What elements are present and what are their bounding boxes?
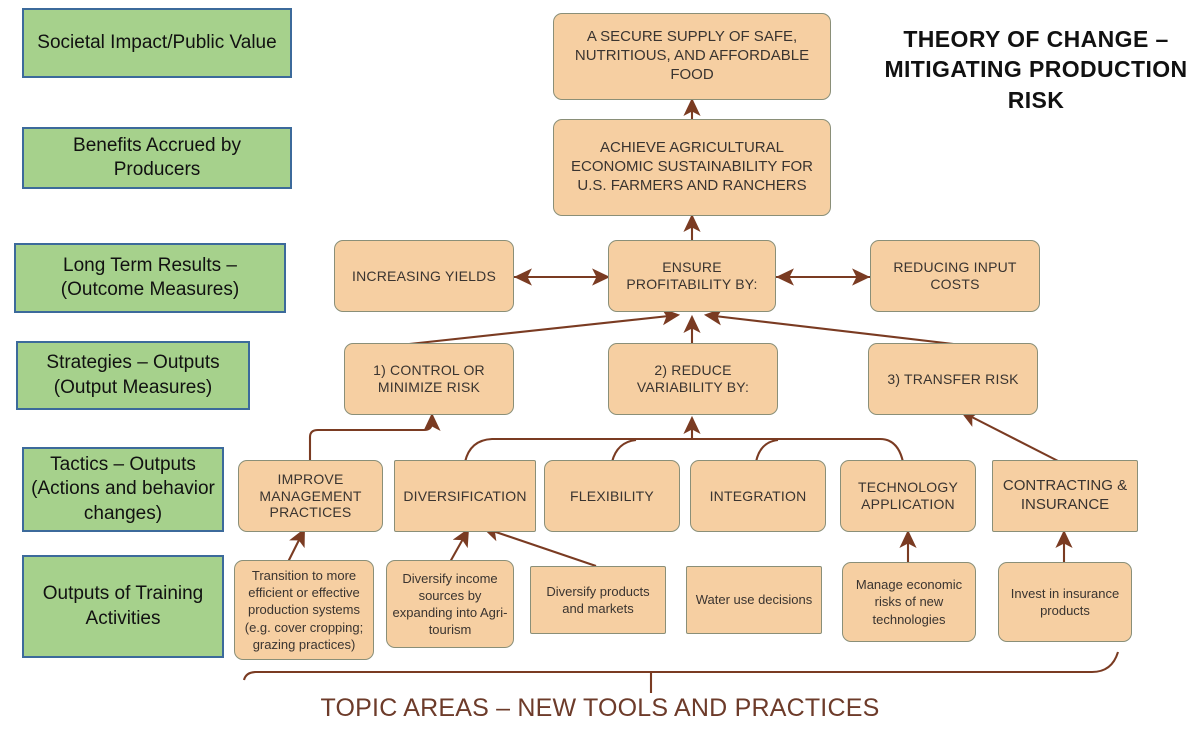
node-secure-food-supply: A SECURE SUPPLY OF SAFE, NUTRITIOUS, AND…	[553, 13, 831, 100]
level-label-text: Outputs of Training Activities	[30, 582, 216, 631]
arrow-output2-to-tactic2	[450, 530, 468, 562]
diagram-canvas: Societal Impact/Public Value Benefits Ac…	[0, 0, 1200, 734]
node-label: CONTRACTING & INSURANCE	[998, 477, 1132, 515]
connector-tactic1-to-strategy1	[310, 415, 432, 460]
node-label: DIVERSIFICATION	[403, 488, 526, 505]
connector-tactics-bracket-left	[465, 439, 880, 462]
level-label-long-term-results: Long Term Results – (Outcome Measures)	[14, 243, 286, 313]
node-manage-economic-risks: Manage economic risks of new technologie…	[842, 562, 976, 642]
node-contracting-insurance: CONTRACTING & INSURANCE	[992, 460, 1138, 532]
node-control-minimize-risk: 1) CONTROL OR MINIMIZE RISK	[344, 343, 514, 415]
node-label: INCREASING YIELDS	[352, 268, 496, 285]
arrow-output1-to-tactic1	[288, 530, 304, 562]
connector-tactics-bracket-right	[880, 439, 903, 462]
node-invest-insurance-products: Invest in insurance products	[998, 562, 1132, 642]
level-label-societal-impact: Societal Impact/Public Value	[22, 8, 292, 78]
node-diversification: DIVERSIFICATION	[394, 460, 536, 532]
node-diversify-income-agritourism: Diversify income sources by expanding in…	[386, 560, 514, 648]
level-label-outputs-training: Outputs of Training Activities	[22, 555, 224, 658]
node-reduce-variability: 2) REDUCE VARIABILITY BY:	[608, 343, 778, 415]
node-label: REDUCING INPUT COSTS	[876, 259, 1034, 293]
level-label-text: Benefits Accrued by Producers	[30, 134, 284, 183]
node-label: ENSURE PROFITABILITY BY:	[614, 259, 770, 293]
node-transfer-risk: 3) TRANSFER RISK	[868, 343, 1038, 415]
node-label: INTEGRATION	[710, 488, 807, 505]
level-label-benefits-producers: Benefits Accrued by Producers	[22, 127, 292, 189]
node-improve-management-practices: IMPROVE MANAGEMENT PRACTICES	[238, 460, 383, 532]
level-label-text: Tactics – Outputs (Actions and behavior …	[30, 453, 216, 526]
node-increasing-yields: INCREASING YIELDS	[334, 240, 514, 312]
connector-tactic-flexibility-stub	[612, 440, 636, 462]
node-label: FLEXIBILITY	[570, 488, 654, 505]
arrow-tactic6-to-strategy3	[962, 412, 1060, 462]
node-label: Water use decisions	[696, 591, 813, 608]
level-label-strategies-outputs: Strategies – Outputs (Output Measures)	[16, 341, 250, 410]
node-ensure-profitability: ENSURE PROFITABILITY BY:	[608, 240, 776, 312]
node-reducing-input-costs: REDUCING INPUT COSTS	[870, 240, 1040, 312]
arrow-strategy3-to-profitability	[706, 315, 962, 345]
node-label: Manage economic risks of new technologie…	[848, 576, 970, 627]
level-label-text: Long Term Results – (Outcome Measures)	[22, 254, 278, 303]
node-diversify-products-markets: Diversify products and markets	[530, 566, 666, 634]
node-label: Transition to more efficient or effectiv…	[240, 567, 368, 653]
level-label-tactics-outputs: Tactics – Outputs (Actions and behavior …	[22, 447, 224, 532]
diagram-title: THEORY OF CHANGE – MITIGATING PRODUCTION…	[878, 24, 1194, 115]
node-label: Diversify products and markets	[536, 583, 660, 617]
level-label-text: Strategies – Outputs (Output Measures)	[24, 351, 242, 400]
node-water-use-decisions: Water use decisions	[686, 566, 822, 634]
node-label: ACHIEVE AGRICULTURAL ECONOMIC SUSTAINABI…	[559, 139, 825, 195]
bottom-caption: TOPIC AREAS – NEW TOOLS AND PRACTICES	[250, 694, 950, 723]
connector-tactic-integration-stub	[756, 440, 778, 462]
node-label: Invest in insurance products	[1004, 585, 1126, 619]
arrow-strategy1-to-profitability	[400, 315, 678, 345]
node-integration: INTEGRATION	[690, 460, 826, 532]
node-label: 3) TRANSFER RISK	[887, 371, 1018, 388]
node-agricultural-sustainability: ACHIEVE AGRICULTURAL ECONOMIC SUSTAINABI…	[553, 119, 831, 216]
level-label-text: Societal Impact/Public Value	[37, 31, 276, 55]
node-label: A SECURE SUPPLY OF SAFE, NUTRITIOUS, AND…	[559, 28, 825, 84]
node-label: 1) CONTROL OR MINIMIZE RISK	[350, 362, 508, 396]
node-label: IMPROVE MANAGEMENT PRACTICES	[244, 471, 377, 521]
node-technology-application: TECHNOLOGY APPLICATION	[840, 460, 976, 532]
node-transition-production-systems: Transition to more efficient or effectiv…	[234, 560, 374, 660]
node-label: TECHNOLOGY APPLICATION	[846, 479, 970, 513]
node-label: 2) REDUCE VARIABILITY BY:	[614, 362, 772, 396]
node-label: Diversify income sources by expanding in…	[392, 570, 508, 639]
connector-bottom-bracket	[244, 652, 1118, 680]
node-flexibility: FLEXIBILITY	[544, 460, 680, 532]
